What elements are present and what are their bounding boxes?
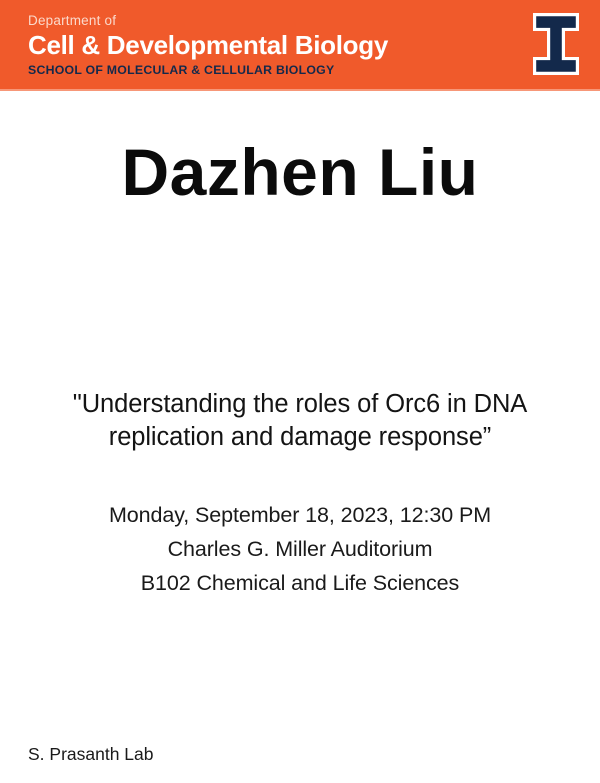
speaker-photo-placeholder [0, 208, 600, 380]
event-venue-line: Charles G. Miller Auditorium [0, 532, 600, 566]
department-prefix-label: Department of [28, 13, 388, 29]
school-name-label: SCHOOL OF MOLECULAR & CELLULAR BIOLOGY [28, 63, 388, 78]
talk-title: "Understanding the roles of Orc6 in DNA … [14, 388, 586, 454]
event-details: Monday, September 18, 2023, 12:30 PM Cha… [0, 498, 600, 600]
illinois-block-i-icon [531, 11, 581, 77]
speaker-name-title: Dazhen Liu [0, 136, 600, 208]
department-name-title: Cell & Developmental Biology [28, 30, 388, 61]
header-band: Department of Cell & Developmental Biolo… [0, 0, 600, 89]
event-building-line: B102 Chemical and Life Sciences [0, 566, 600, 600]
event-datetime-line: Monday, September 18, 2023, 12:30 PM [0, 498, 600, 532]
header-text-block: Department of Cell & Developmental Biolo… [28, 13, 388, 78]
lab-affiliation-label: S. Prasanth Lab [28, 743, 154, 765]
